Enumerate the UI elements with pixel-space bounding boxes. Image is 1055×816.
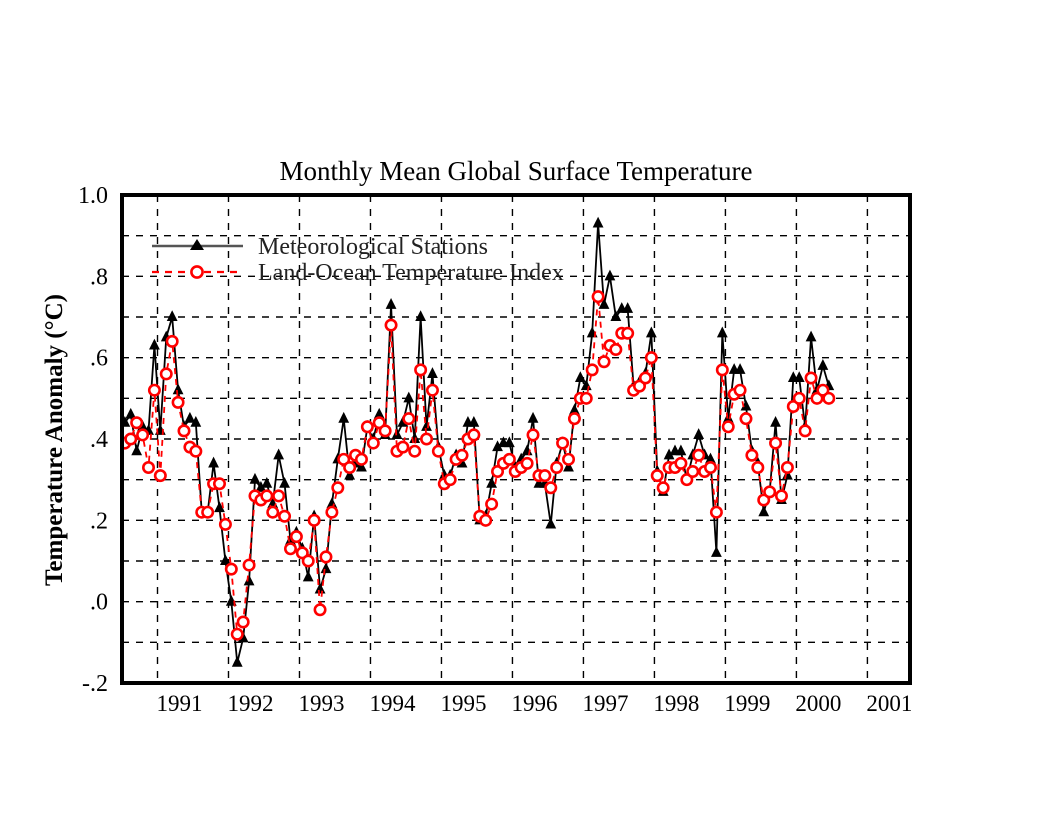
- marker-circle-open-icon: [344, 462, 354, 472]
- marker-circle-open-icon: [191, 446, 201, 456]
- x-tick-label: 1995: [440, 691, 486, 716]
- marker-circle-open-icon: [232, 629, 242, 639]
- marker-circle-open-icon: [285, 544, 295, 554]
- marker-circle-open-icon: [782, 462, 792, 472]
- marker-circle-open-icon: [640, 373, 650, 383]
- marker-circle-open-icon: [155, 470, 165, 480]
- temperature-anomaly-line-chart: Monthly Mean Global Surface Temperature …: [0, 0, 1055, 816]
- marker-circle-open-icon: [244, 560, 254, 570]
- marker-circle-open-icon: [268, 507, 278, 517]
- legend-label-land-ocean: Land-Ocean Temperature Index: [258, 260, 564, 286]
- marker-circle-open-icon: [415, 365, 425, 375]
- marker-circle-open-icon: [693, 450, 703, 460]
- circle-open-icon: [191, 266, 202, 277]
- y-tick-label: .8: [90, 264, 108, 290]
- marker-circle-open-icon: [705, 462, 715, 472]
- marker-circle-open-icon: [806, 373, 816, 383]
- legend-label-stations: Meteorological Stations: [258, 234, 488, 260]
- marker-circle-open-icon: [427, 385, 437, 395]
- marker-circle-open-icon: [131, 418, 141, 428]
- marker-circle-open-icon: [557, 438, 567, 448]
- marker-circle-open-icon: [126, 434, 136, 444]
- marker-circle-open-icon: [794, 393, 804, 403]
- marker-circle-open-icon: [149, 385, 159, 395]
- marker-circle-open-icon: [410, 446, 420, 456]
- marker-circle-open-icon: [356, 454, 366, 464]
- marker-circle-open-icon: [486, 499, 496, 509]
- marker-circle-open-icon: [800, 426, 810, 436]
- marker-circle-open-icon: [622, 328, 632, 338]
- marker-circle-open-icon: [658, 483, 668, 493]
- x-tick-label: 1994: [369, 691, 416, 716]
- marker-circle-open-icon: [569, 413, 579, 423]
- marker-circle-open-icon: [421, 434, 431, 444]
- x-tick-labels: 1991199219931994199519961997199819992000…: [157, 691, 913, 716]
- marker-circle-open-icon: [167, 336, 177, 346]
- marker-circle-open-icon: [404, 413, 414, 423]
- marker-circle-open-icon: [291, 531, 301, 541]
- marker-circle-open-icon: [469, 430, 479, 440]
- y-tick-label: .2: [90, 508, 108, 534]
- marker-circle-open-icon: [723, 422, 733, 432]
- marker-circle-open-icon: [137, 430, 147, 440]
- marker-circle-open-icon: [611, 344, 621, 354]
- marker-circle-open-icon: [333, 483, 343, 493]
- marker-circle-open-icon: [764, 487, 774, 497]
- chart-figure: Monthly Mean Global Surface Temperature …: [0, 0, 1055, 816]
- marker-circle-open-icon: [273, 491, 283, 501]
- marker-circle-open-icon: [445, 474, 455, 484]
- marker-circle-open-icon: [581, 393, 591, 403]
- marker-circle-open-icon: [279, 511, 289, 521]
- marker-circle-open-icon: [362, 422, 372, 432]
- x-tick-label: 1997: [582, 691, 628, 716]
- y-tick-label: -.2: [82, 671, 108, 697]
- x-tick-label: 1996: [511, 691, 557, 716]
- marker-circle-open-icon: [593, 291, 603, 301]
- x-tick-label: 1998: [653, 691, 699, 716]
- marker-circle-open-icon: [711, 507, 721, 517]
- marker-circle-open-icon: [540, 470, 550, 480]
- marker-circle-open-icon: [599, 357, 609, 367]
- marker-circle-open-icon: [386, 320, 396, 330]
- marker-circle-open-icon: [504, 454, 514, 464]
- marker-circle-open-icon: [220, 519, 230, 529]
- y-tick-label: .4: [90, 427, 108, 453]
- marker-circle-open-icon: [652, 470, 662, 480]
- marker-circle-open-icon: [563, 454, 573, 464]
- marker-circle-open-icon: [202, 507, 212, 517]
- y-axis-label: Temperature Anomaly (°C): [41, 294, 68, 586]
- marker-circle-open-icon: [688, 466, 698, 476]
- marker-circle-open-icon: [741, 413, 751, 423]
- marker-circle-open-icon: [457, 450, 467, 460]
- marker-circle-open-icon: [173, 397, 183, 407]
- marker-circle-open-icon: [770, 438, 780, 448]
- marker-circle-open-icon: [546, 483, 556, 493]
- marker-circle-open-icon: [824, 393, 834, 403]
- marker-circle-open-icon: [646, 352, 656, 362]
- x-tick-label: 1993: [298, 691, 344, 716]
- marker-circle-open-icon: [528, 430, 538, 440]
- x-tick-label: 2001: [866, 691, 912, 716]
- marker-circle-open-icon: [747, 450, 757, 460]
- marker-circle-open-icon: [481, 515, 491, 525]
- x-tick-label: 1999: [724, 691, 770, 716]
- marker-circle-open-icon: [551, 462, 561, 472]
- marker-circle-open-icon: [398, 442, 408, 452]
- marker-circle-open-icon: [753, 462, 763, 472]
- marker-circle-open-icon: [303, 556, 313, 566]
- marker-circle-open-icon: [179, 426, 189, 436]
- marker-circle-open-icon: [522, 458, 532, 468]
- marker-circle-open-icon: [315, 605, 325, 615]
- marker-circle-open-icon: [161, 369, 171, 379]
- marker-circle-open-icon: [321, 552, 331, 562]
- marker-circle-open-icon: [433, 446, 443, 456]
- marker-circle-open-icon: [380, 426, 390, 436]
- marker-circle-open-icon: [262, 491, 272, 501]
- marker-circle-open-icon: [238, 617, 248, 627]
- x-tick-label: 1991: [157, 691, 203, 716]
- marker-circle-open-icon: [776, 491, 786, 501]
- chart-title: Monthly Mean Global Surface Temperature: [280, 156, 753, 186]
- marker-circle-open-icon: [735, 385, 745, 395]
- marker-circle-open-icon: [214, 479, 224, 489]
- marker-circle-open-icon: [717, 365, 727, 375]
- marker-circle-open-icon: [676, 458, 686, 468]
- marker-circle-open-icon: [309, 515, 319, 525]
- y-tick-label: .0: [90, 590, 108, 616]
- marker-circle-open-icon: [143, 462, 153, 472]
- marker-circle-open-icon: [368, 438, 378, 448]
- marker-circle-open-icon: [327, 507, 337, 517]
- y-tick-label: 1.0: [78, 183, 108, 209]
- x-tick-label: 2000: [795, 691, 841, 716]
- y-tick-label: .6: [90, 346, 108, 372]
- x-tick-label: 1992: [227, 691, 273, 716]
- marker-circle-open-icon: [587, 365, 597, 375]
- marker-circle-open-icon: [226, 564, 236, 574]
